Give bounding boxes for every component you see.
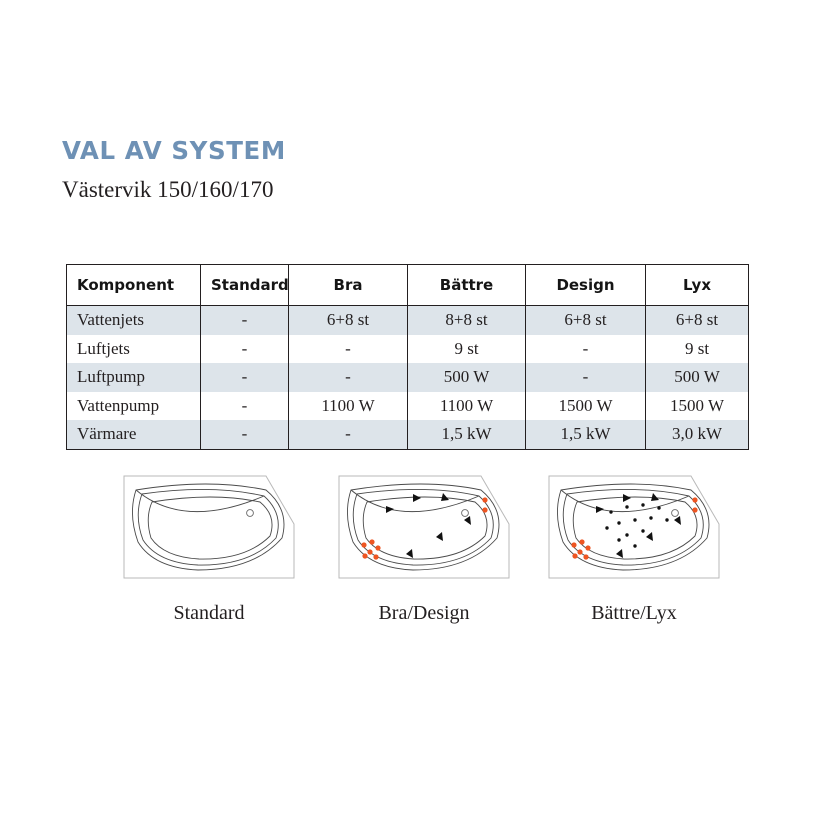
bathtub-outline-battre-lyx-icon: [539, 468, 729, 586]
table-row: Värmare - - 1,5 kW 1,5 kW 3,0 kW: [67, 420, 749, 449]
diagram-standard: Standard: [114, 468, 324, 625]
cell-bra: -: [289, 363, 408, 392]
air-jet-marker: [605, 503, 668, 547]
cell-bra: 1100 W: [289, 392, 408, 421]
cell-standard: -: [201, 363, 289, 392]
heading-block: VAL AV SYSTEM Västervik 150/160/170: [62, 138, 762, 203]
water-jet-marker: [386, 493, 471, 558]
cell-design: -: [526, 363, 646, 392]
cell-battre: 1100 W: [408, 392, 526, 421]
system-spec-table: Komponent Standard Bra Bättre Design Lyx…: [66, 264, 749, 450]
cell-component: Vattenjets: [67, 306, 201, 335]
cell-lyx: 1500 W: [646, 392, 749, 421]
cell-design: 1,5 kW: [526, 420, 646, 449]
cell-lyx: 6+8 st: [646, 306, 749, 335]
page-subtitle: Västervik 150/160/170: [62, 165, 762, 203]
cell-battre: 9 st: [408, 335, 526, 364]
cell-component: Värmare: [67, 420, 201, 449]
cell-standard: -: [201, 306, 289, 335]
column-header-komponent: Komponent: [67, 265, 201, 306]
cell-component: Luftpump: [67, 363, 201, 392]
table-row: Vattenpump - 1100 W 1100 W 1500 W 1500 W: [67, 392, 749, 421]
cell-bra: 6+8 st: [289, 306, 408, 335]
diagram-battre-lyx: Bättre/Lyx: [539, 468, 749, 625]
cell-standard: -: [201, 335, 289, 364]
cell-lyx: 3,0 kW: [646, 420, 749, 449]
water-jet-marker: [596, 493, 681, 558]
cell-standard: -: [201, 392, 289, 421]
column-header-lyx: Lyx: [646, 265, 749, 306]
jet-cluster-left: [361, 539, 380, 559]
column-header-battre: Bättre: [408, 265, 526, 306]
column-header-design: Design: [526, 265, 646, 306]
cell-design: 6+8 st: [526, 306, 646, 335]
cell-design: 1500 W: [526, 392, 646, 421]
diagram-caption-bra-design: Bra/Design: [329, 586, 519, 625]
table-header-row: Komponent Standard Bra Bättre Design Lyx: [67, 265, 749, 306]
table-row: Luftpump - - 500 W - 500 W: [67, 363, 749, 392]
cell-battre: 500 W: [408, 363, 526, 392]
cell-lyx: 500 W: [646, 363, 749, 392]
cell-lyx: 9 st: [646, 335, 749, 364]
cell-design: -: [526, 335, 646, 364]
cell-battre: 8+8 st: [408, 306, 526, 335]
diagram-caption-battre-lyx: Bättre/Lyx: [539, 586, 729, 625]
bathtub-diagram-row: Standard: [66, 468, 766, 628]
cell-bra: -: [289, 420, 408, 449]
diagram-caption-standard: Standard: [114, 586, 304, 625]
column-header-bra: Bra: [289, 265, 408, 306]
cell-component: Luftjets: [67, 335, 201, 364]
table-row: Luftjets - - 9 st - 9 st: [67, 335, 749, 364]
cell-standard: -: [201, 420, 289, 449]
diagram-bra-design: Bra/Design: [329, 468, 539, 625]
bathtub-outline-standard-icon: [114, 468, 304, 586]
page-title: VAL AV SYSTEM: [62, 138, 762, 165]
jet-cluster-left: [571, 539, 590, 559]
page-root: VAL AV SYSTEM Västervik 150/160/170 Komp…: [0, 0, 828, 828]
table-row: Vattenjets - 6+8 st 8+8 st 6+8 st 6+8 st: [67, 306, 749, 335]
cell-battre: 1,5 kW: [408, 420, 526, 449]
bathtub-outline-bra-design-icon: [329, 468, 519, 586]
cell-component: Vattenpump: [67, 392, 201, 421]
cell-bra: -: [289, 335, 408, 364]
column-header-standard: Standard: [201, 265, 289, 306]
